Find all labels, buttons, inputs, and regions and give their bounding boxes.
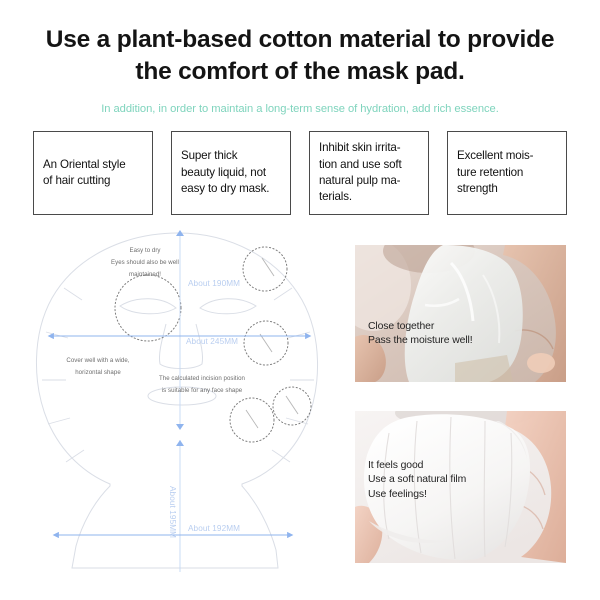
note-mouth: The calculated incision position is suit… <box>159 375 245 394</box>
dim-label-192: About 192MM <box>188 524 240 533</box>
photo-sheet-mask-closeup: Close together Pass the moisture well! <box>355 245 566 382</box>
note-eye-line-1: Easy to dry <box>129 247 161 254</box>
mask-nose-opening <box>159 324 202 369</box>
feature-box-2: Super thick beauty liquid, not easy to d… <box>171 131 291 215</box>
note-cheek-line-2: horizontal shape <box>75 369 121 376</box>
note-eye-line-3: maintained! <box>129 271 161 278</box>
mask-eye-openings <box>120 299 256 314</box>
mask-technical-diagram: About 190MM About 245MM About 192MM Abou… <box>20 228 355 573</box>
dimension-lines <box>53 230 306 572</box>
page-title: Use a plant-based cotton material to pro… <box>30 24 570 89</box>
note-eye-line-2: Eyes should also be well <box>111 259 179 266</box>
feature-box-4-label: Excellent mois- ture retention strength <box>457 148 533 197</box>
callout-circle-eye <box>115 275 181 341</box>
feature-box-3: Inhibit skin irrita- tion and use soft n… <box>309 131 429 215</box>
photo-cotton-film-closeup: It feels good Use a soft natural film Us… <box>355 411 566 563</box>
callout-circle-top-right <box>243 247 287 291</box>
dim-label-195: About 195MM <box>168 486 177 538</box>
callout-circle-low-right <box>230 398 274 442</box>
page-subtitle: In addition, in order to maintain a long… <box>30 103 570 115</box>
note-mouth-line-1: The calculated incision position <box>159 375 245 382</box>
note-cheek-line-1: Cover well with a wide, <box>66 357 129 364</box>
note-eye: Easy to dry Eyes should also be well mai… <box>111 247 179 278</box>
feature-box-4: Excellent mois- ture retention strength <box>447 131 567 215</box>
page-header: Use a plant-based cotton material to pro… <box>0 0 600 115</box>
feature-box-row: An Oriental style of hair cutting Super … <box>33 131 567 215</box>
photo-bottom-cotton-sheet <box>364 414 530 560</box>
main-content: About 190MM About 245MM About 192MM Abou… <box>0 228 600 578</box>
dim-label-245: About 245MM <box>186 337 238 346</box>
feature-box-3-label: Inhibit skin irrita- tion and use soft n… <box>319 140 402 206</box>
note-cheek: Cover well with a wide, horizontal shape <box>66 357 129 376</box>
feature-box-1-label: An Oriental style of hair cutting <box>43 157 126 190</box>
feature-box-2-label: Super thick beauty liquid, not easy to d… <box>181 148 269 197</box>
dim-label-190: About 190MM <box>188 279 240 288</box>
note-mouth-line-2: is suitable for any face shape <box>162 387 243 394</box>
feature-box-1: An Oriental style of hair cutting <box>33 131 153 215</box>
